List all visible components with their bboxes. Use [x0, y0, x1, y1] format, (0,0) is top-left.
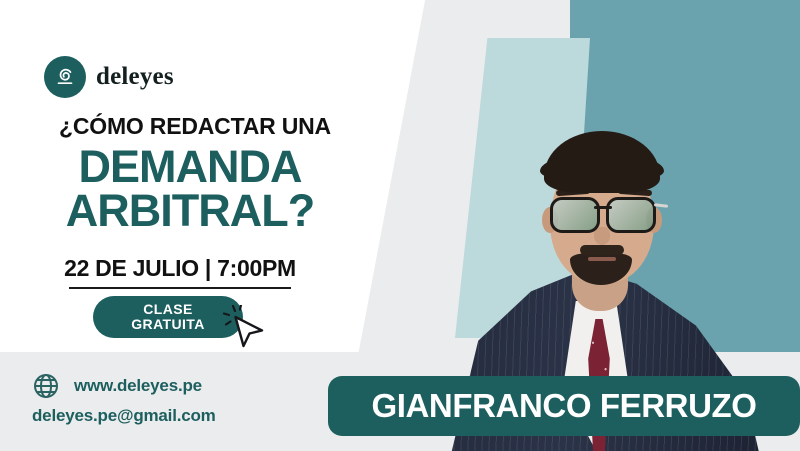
cta-label-line-1: CLASE	[143, 302, 192, 317]
page-title: DEMANDA ARBITRAL?	[20, 145, 360, 232]
headline-line-2: ARBITRAL?	[20, 189, 360, 233]
globe-icon	[32, 372, 60, 400]
portrait-hair	[544, 131, 660, 193]
portrait-glasses	[548, 197, 658, 227]
brand-wordmark: deleyes	[96, 63, 174, 91]
event-date-time: 22 DE JULIO | 7:00PM	[64, 255, 296, 282]
website-url: www.deleyes.pe	[74, 376, 202, 396]
portrait-mouth	[588, 257, 616, 261]
cta-label-line-2: GRATUITA	[131, 317, 204, 332]
clase-gratuita-button[interactable]: CLASE GRATUITA	[93, 296, 243, 338]
glasses-temple	[654, 203, 668, 207]
glasses-lens-left	[550, 197, 600, 233]
headline-kicker: ¿CÓMO REDACTAR UNA	[30, 115, 360, 138]
portrait-nose	[594, 227, 610, 245]
brand-logo[interactable]: deleyes	[44, 56, 174, 98]
email-address[interactable]: deleyes.pe@gmail.com	[32, 406, 216, 426]
promo-banner: deleyes ¿CÓMO REDACTAR UNA DEMANDA ARBIT…	[0, 0, 800, 451]
speaker-name: GIANFRANCO FERRUZO	[371, 387, 756, 425]
website-row[interactable]: www.deleyes.pe	[32, 372, 216, 400]
date-underline-rule	[69, 287, 291, 289]
portrait-moustache	[580, 245, 624, 255]
contact-block: www.deleyes.pe deleyes.pe@gmail.com	[32, 372, 216, 426]
glasses-lens-right	[606, 197, 656, 233]
speaker-name-banner: GIANFRANCO FERRUZO	[328, 376, 800, 436]
spiral-logo-icon	[44, 56, 86, 98]
glasses-bridge	[594, 206, 612, 209]
event-date-block: 22 DE JULIO | 7:00PM	[20, 255, 340, 289]
mouse-pointer-click-icon	[222, 305, 274, 357]
